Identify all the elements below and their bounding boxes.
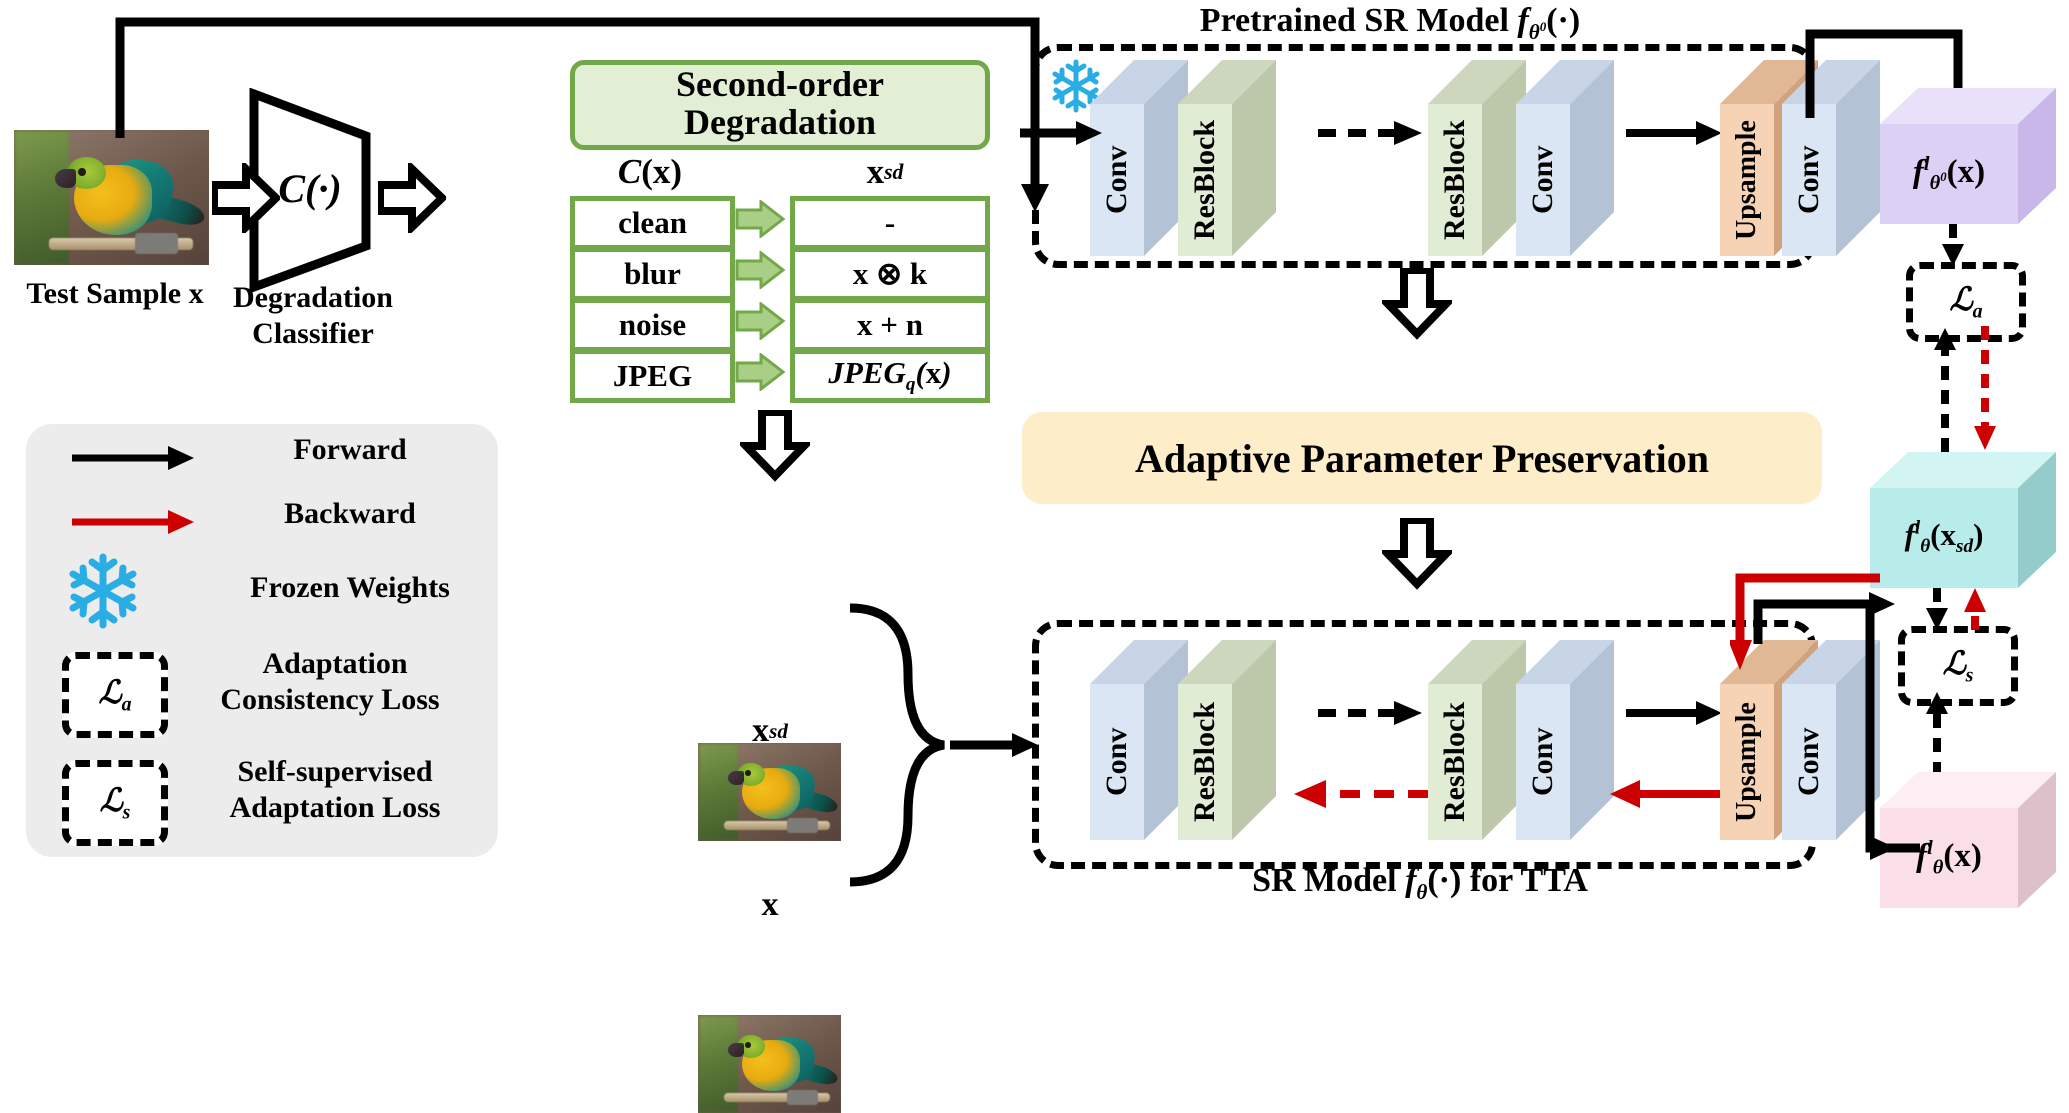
- degradation-formula-noise: x + n: [790, 298, 990, 352]
- degradation-col-header-right: xsd: [790, 152, 980, 192]
- layer-label-conv-2-top: Conv: [1516, 104, 1570, 256]
- degraded-sample-caption: xsd: [680, 712, 860, 750]
- arrow-into-pretrained: [1020, 118, 1106, 148]
- layer-label-resblock-2-bottom: ResBlock: [1428, 684, 1482, 840]
- legend-ls-symbol: ℒs: [100, 781, 131, 824]
- degradation-header-line1: Second-order: [575, 65, 985, 103]
- degradation-type-jpeg[interactable]: JPEG: [570, 349, 735, 403]
- dashed-arrow-bottom-forward: [1318, 698, 1428, 728]
- legend-la-label-line1: Adaptation: [180, 648, 490, 680]
- degradation-type-noise[interactable]: noise: [570, 298, 735, 352]
- pretrained-output-label: flθ0(x): [1880, 124, 2018, 224]
- row-arrow-noise: [735, 302, 787, 340]
- layer-label-resblock-2-top: ResBlock: [1428, 104, 1482, 256]
- test-sample-caption: Test Sample x: [0, 278, 230, 310]
- pretrained-model-caption: Pretrained SR Model fθ0(·): [1040, 2, 1740, 45]
- tta-model-caption: SR Model fθ(·) for TTA: [1040, 862, 1800, 905]
- clean-sample-caption: x: [680, 886, 860, 924]
- degradation-col-header-left: C(x): [570, 152, 730, 192]
- layer-label-conv-1-bottom: Conv: [1090, 684, 1144, 840]
- layer-label-resblock-1-top: ResBlock: [1178, 104, 1232, 256]
- legend-forward-arrow-icon: [68, 440, 198, 476]
- layer-label-conv-2-bottom: Conv: [1516, 684, 1570, 840]
- legend-ls-icon: ℒs: [62, 760, 168, 846]
- dashed-arrow-bottom-backward: [1270, 778, 1428, 810]
- adaptive-parameter-preservation-bar: Adaptive Parameter Preservation: [1022, 412, 1822, 504]
- adaptation-consistency-loss-box: ℒa: [1906, 262, 2026, 342]
- arrow-brace-to-tta: [950, 730, 1042, 760]
- degradation-header-line2: Degradation: [575, 103, 985, 141]
- arrow-degradation-to-samples: [740, 410, 810, 482]
- degraded-sample-image: [698, 743, 841, 841]
- classifier-caption-line2: Classifier: [218, 318, 408, 350]
- legend-backward-label: Backward: [210, 498, 490, 530]
- row-arrow-jpeg: [735, 353, 787, 391]
- degradation-formula-jpeg: JPEGq(x): [790, 349, 990, 403]
- degradation-type-clean[interactable]: clean: [570, 196, 735, 250]
- la-symbol: ℒa: [1950, 280, 1983, 323]
- dashed-arrow-top: [1318, 118, 1428, 148]
- second-order-degradation-header: Second-order Degradation: [570, 60, 990, 150]
- teal-forward-line: [1840, 596, 1920, 626]
- row-arrow-clean: [735, 200, 787, 238]
- legend-forward-label: Forward: [210, 434, 490, 466]
- snowflake-icon: [64, 552, 142, 630]
- legend-frozen-label: Frozen Weights: [200, 572, 500, 604]
- arrow-pretrained-to-app: [1382, 268, 1452, 340]
- degradation-formula-blur: x ⊗ k: [790, 247, 990, 301]
- classifier-caption-line1: Degradation: [218, 282, 408, 314]
- arrow-app-to-tta: [1382, 518, 1452, 590]
- input-brace: [840, 600, 960, 890]
- legend-la-symbol: ℒa: [99, 673, 132, 716]
- legend-la-icon: ℒa: [62, 652, 168, 738]
- legend-la-label-line2: Consistency Loss: [165, 684, 495, 716]
- layer-label-resblock-1-bottom: ResBlock: [1178, 684, 1232, 840]
- degradation-type-blur[interactable]: blur: [570, 247, 735, 301]
- row-arrow-blur: [735, 251, 787, 289]
- clean-sample-image: [698, 1015, 841, 1113]
- dashed-line-teal-to-la: [1930, 326, 1960, 452]
- legend-backward-arrow-icon: [68, 504, 198, 540]
- dashed-line-purple-to-la: [1938, 224, 1968, 268]
- degradation-formula-clean: -: [790, 196, 990, 250]
- legend-ls-label-line1: Self-supervised: [180, 756, 490, 788]
- legend-ls-label-line2: Adaptation Loss: [175, 792, 495, 824]
- solid-arrow-bottom-backward: [1600, 778, 1728, 810]
- solid-arrow-bottom-forward: [1626, 698, 1726, 728]
- red-dashed-line-la-to-teal: [1970, 326, 2000, 452]
